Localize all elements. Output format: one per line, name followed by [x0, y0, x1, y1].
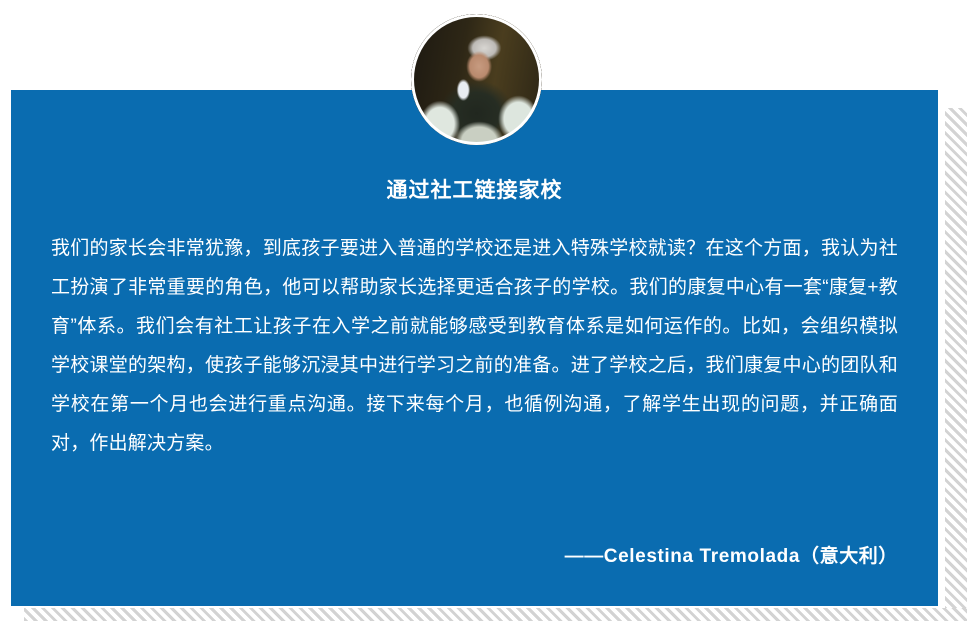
diagonal-hatch-strip-right-icon	[945, 108, 967, 620]
diagonal-hatch-strip-bottom-icon	[24, 608, 967, 621]
quote-card-stage: 通过社工链接家校 我们的家长会非常犹豫，到底孩子要进入普通的学校还是进入特殊学校…	[0, 0, 967, 635]
avatar	[411, 14, 542, 145]
quote-title: 通过社工链接家校	[51, 178, 898, 203]
avatar-white-ring	[411, 14, 542, 145]
quote-body-text: 我们的家长会非常犹豫，到底孩子要进入普通的学校还是进入特殊学校就读？在这个方面，…	[51, 229, 898, 463]
quote-content: 通过社工链接家校 我们的家长会非常犹豫，到底孩子要进入普通的学校还是进入特殊学校…	[11, 90, 938, 606]
quote-panel: 通过社工链接家校 我们的家长会非常犹豫，到底孩子要进入普通的学校还是进入特殊学校…	[11, 90, 938, 606]
quote-attribution: ——Celestina Tremolada（意大利）	[565, 541, 898, 568]
